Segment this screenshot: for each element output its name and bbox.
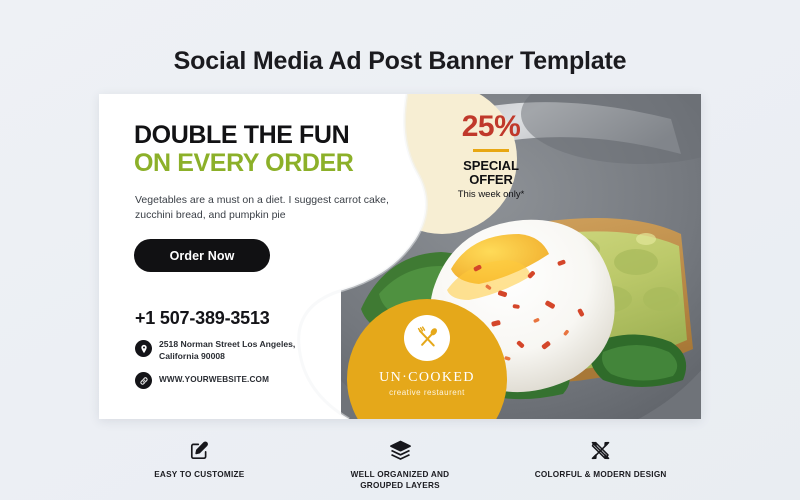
feature-label-line-2: GROUPED LAYERS — [360, 481, 440, 490]
pencil-ruler-icon — [500, 437, 701, 463]
phone-number[interactable]: +1 507-389-3513 — [135, 308, 270, 329]
link-icon — [135, 372, 152, 389]
feature-item: EASY TO CUSTOMIZE — [99, 437, 300, 491]
feature-list: EASY TO CUSTOMIZE WELL ORGANIZED AND GRO… — [99, 437, 701, 491]
offer-divider — [473, 149, 509, 152]
page-background: Social Media Ad Post Banner Template — [0, 0, 800, 500]
body-text: Vegetables are a must on a diet. I sugge… — [135, 193, 403, 223]
website-text: WWW.YOURWEBSITE.COM — [159, 375, 269, 384]
offer-subtitle: This week only* — [429, 189, 553, 200]
discount-percent: 25% — [429, 112, 553, 142]
offer-title-line-2: OFFER — [469, 172, 513, 187]
brand-tagline: creative restaurent — [347, 388, 507, 397]
layers-icon — [300, 437, 501, 463]
fork-spoon-icon — [404, 315, 450, 361]
order-now-button[interactable]: Order Now — [134, 239, 270, 272]
special-offer-badge: 25% SPECIAL OFFER This week only* — [429, 112, 553, 200]
feature-label-line-1: WELL ORGANIZED AND — [351, 470, 450, 479]
address-line-2: California 90008 — [159, 351, 225, 361]
feature-item: COLORFUL & MODERN DESIGN — [500, 437, 701, 491]
feature-label: WELL ORGANIZED AND GROUPED LAYERS — [300, 469, 501, 491]
ad-banner: DOUBLE THE FUN ON EVERY ORDER Vegetables… — [99, 94, 701, 419]
feature-item: WELL ORGANIZED AND GROUPED LAYERS — [300, 437, 501, 491]
address-row: 2518 Norman Street Los Angeles, Californ… — [135, 339, 344, 363]
feature-label: EASY TO CUSTOMIZE — [99, 469, 300, 480]
website-row[interactable]: WWW.YOURWEBSITE.COM — [135, 371, 269, 389]
map-pin-icon — [135, 340, 152, 357]
headline-line-1: DOUBLE THE FUN — [134, 121, 353, 149]
feature-label-line-1: COLORFUL & MODERN DESIGN — [535, 470, 667, 479]
feature-label: COLORFUL & MODERN DESIGN — [500, 469, 701, 480]
headline: DOUBLE THE FUN ON EVERY ORDER — [134, 121, 353, 178]
offer-title-line-1: SPECIAL — [463, 158, 519, 173]
address-text: 2518 Norman Street Los Angeles, Californ… — [159, 339, 344, 363]
brand-name: UN·COOKED — [347, 370, 507, 386]
headline-line-2: ON EVERY ORDER — [134, 149, 353, 177]
address-line-1: 2518 Norman Street Los Angeles, — [159, 339, 295, 349]
offer-title: SPECIAL OFFER — [429, 159, 553, 187]
edit-square-icon — [99, 437, 300, 463]
feature-label-line-1: EASY TO CUSTOMIZE — [154, 470, 244, 479]
page-title: Social Media Ad Post Banner Template — [0, 47, 800, 76]
